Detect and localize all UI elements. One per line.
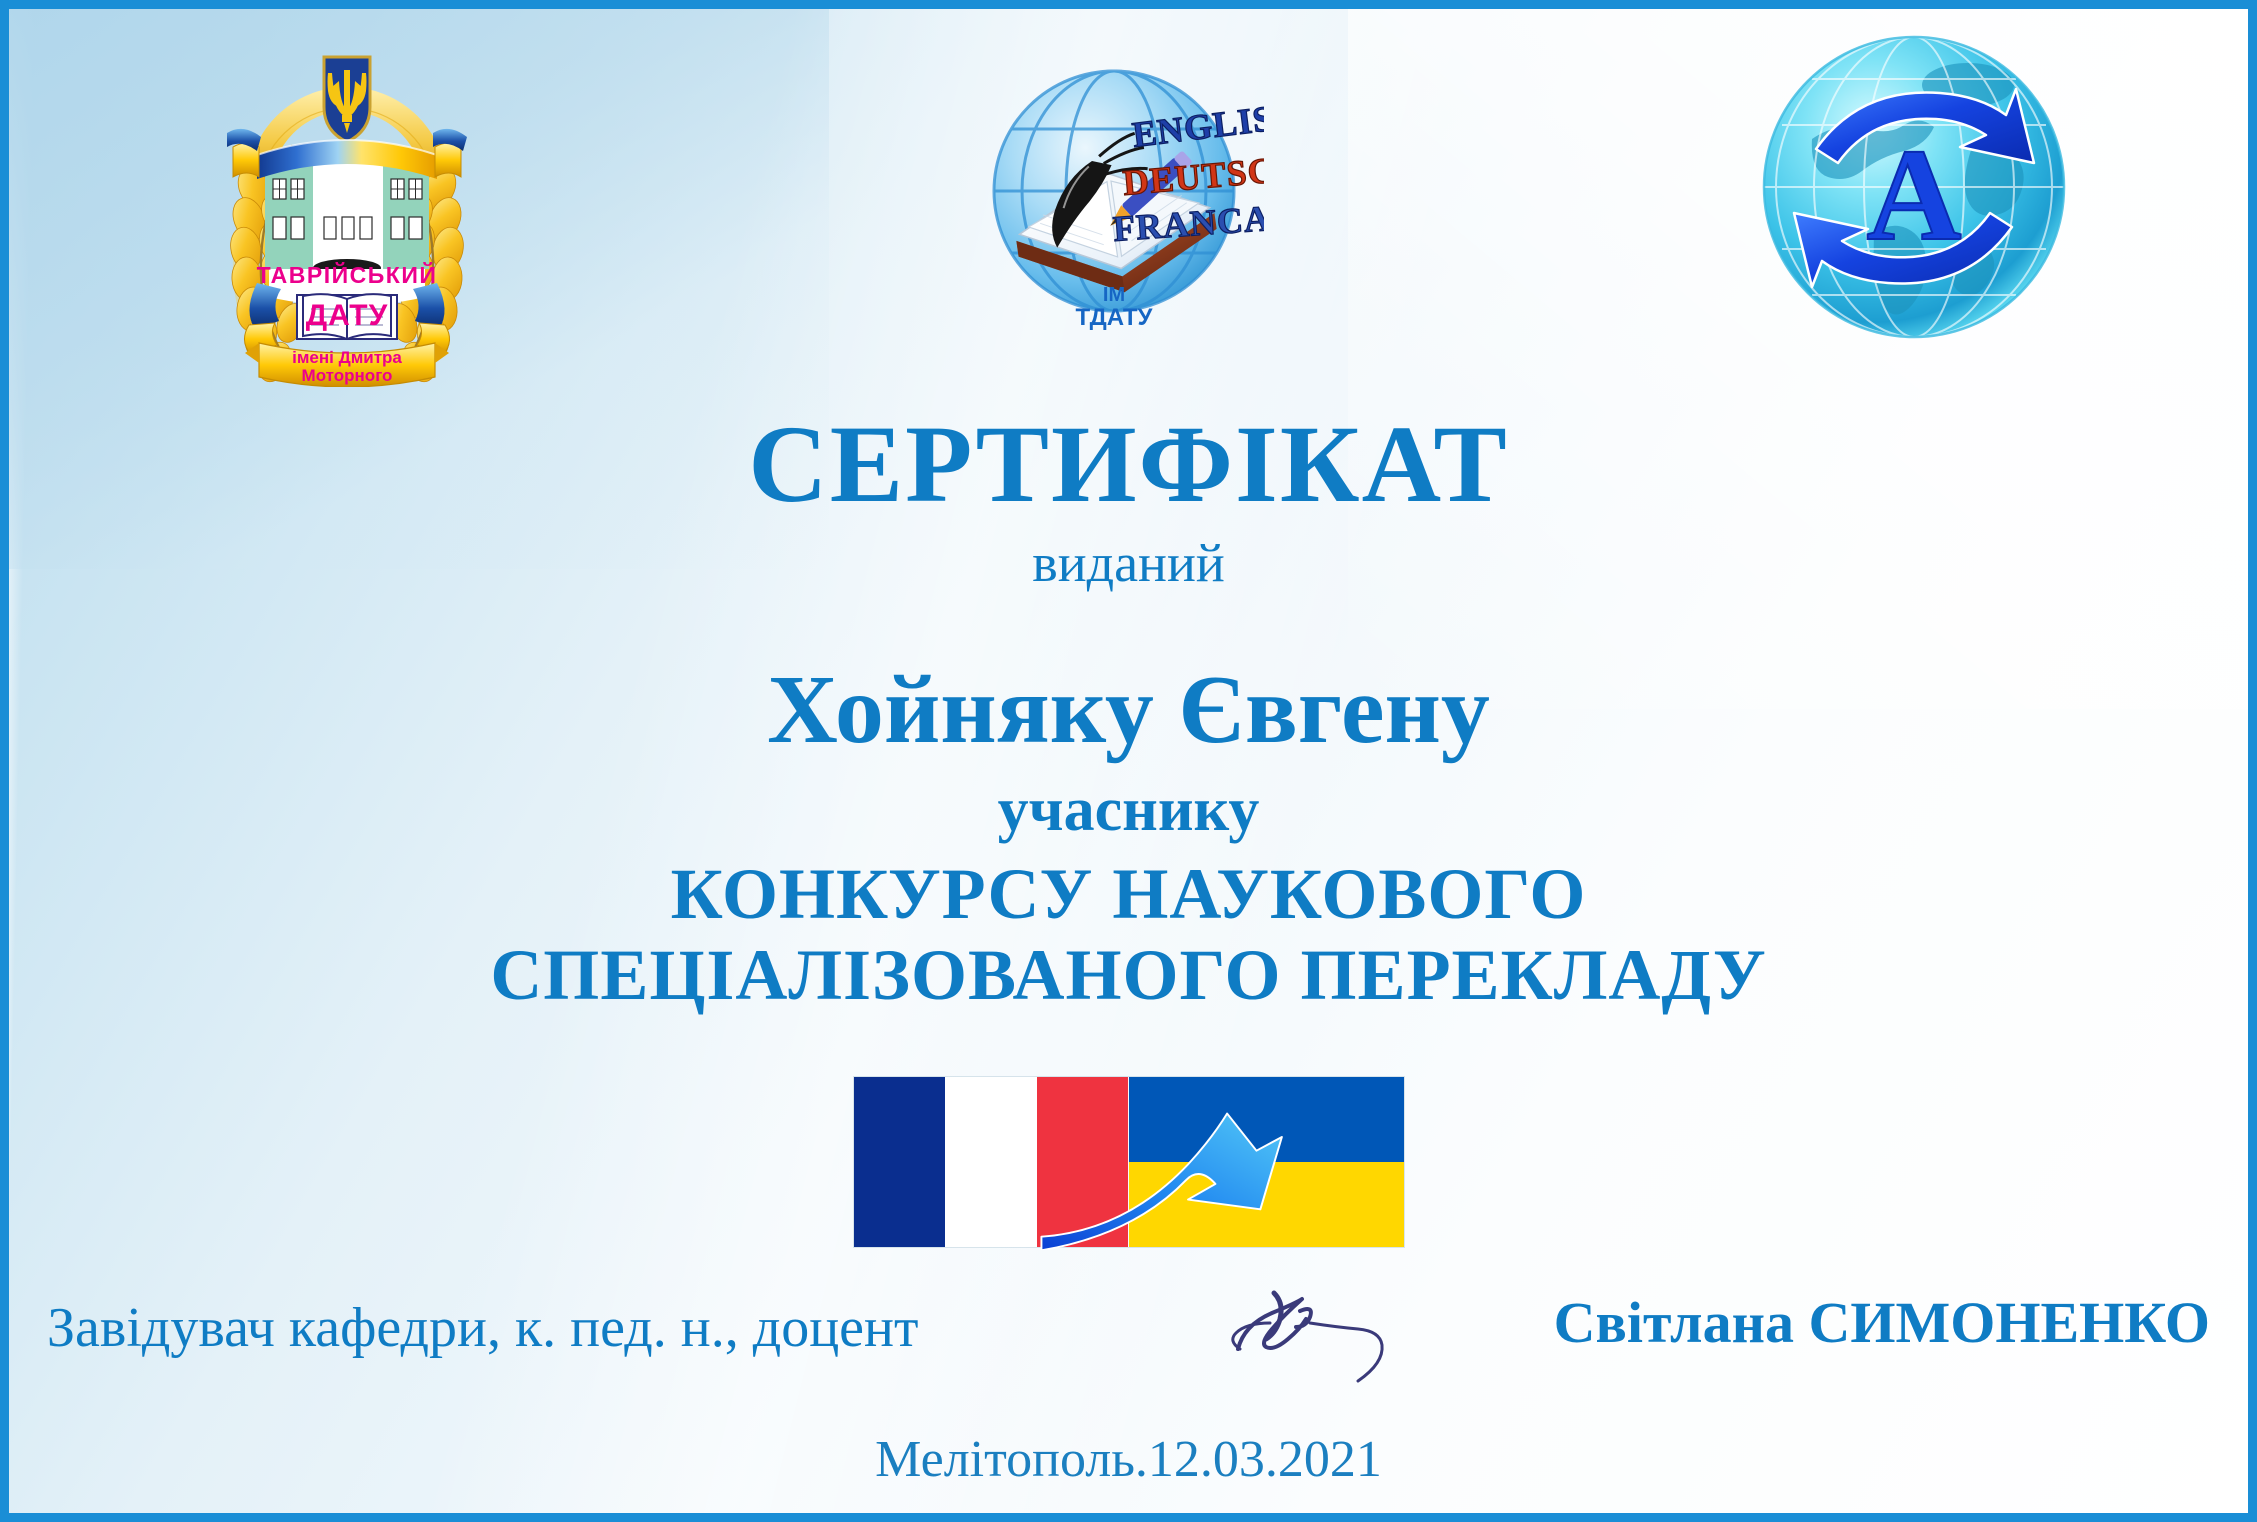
tdatu-emblem-logo: ТАВРІЙСЬКИЙ ДАТУ імені Дмитра bbox=[187, 37, 507, 387]
issued-label: виданий bbox=[9, 536, 2248, 590]
tdatu-title-text: ТАВРІЙСЬКИЙ bbox=[257, 261, 438, 288]
handwritten-signature bbox=[1214, 1267, 1404, 1387]
place-and-date: Мелітополь.12.03.2021 bbox=[9, 1434, 2248, 1486]
flag-ukraine-band-blue bbox=[1129, 1077, 1404, 1162]
translation-globe-arrows-logo: A bbox=[1754, 27, 2074, 347]
certificate-content: ТАВРІЙСЬКИЙ ДАТУ імені Дмитра bbox=[9, 9, 2248, 1513]
event-name-line-2: СПЕЦІАЛІЗОВАНОГО ПЕРЕКЛАДУ bbox=[9, 935, 2248, 1016]
flags-graphic bbox=[854, 1077, 1404, 1247]
signatory-name: Світлана СИМОНЕНКО bbox=[1554, 1294, 2210, 1352]
tdatu-ribbon-line1: імені Дмитра bbox=[292, 348, 402, 367]
tdatu-acronym-text: ДАТУ bbox=[306, 299, 389, 332]
signatory-position: Завідувач кафедри, к. пед. н., доцент bbox=[47, 1300, 918, 1356]
event-name-line-1: КОНКУРСУ НАУКОВОГО bbox=[9, 854, 2248, 935]
languages-footer-line2: ТДАТУ bbox=[1076, 304, 1154, 331]
page-title: СЕРТИФІКАТ bbox=[9, 409, 2248, 519]
flag-france-band-red bbox=[1037, 1077, 1129, 1247]
recipient-role: учаснику bbox=[9, 779, 2248, 841]
flag-france-band-white bbox=[945, 1077, 1037, 1247]
flags-row bbox=[854, 1077, 1404, 1247]
flag-ukraine-band-yellow bbox=[1129, 1162, 1404, 1247]
certificate-page: ТАВРІЙСЬКИЙ ДАТУ імені Дмитра bbox=[0, 0, 2257, 1522]
flag-ukraine bbox=[1129, 1077, 1404, 1247]
recipient-name: Хойняку Євгену bbox=[9, 661, 2248, 759]
flag-france-band-blue bbox=[854, 1077, 946, 1247]
event-name: КОНКУРСУ НАУКОВОГО СПЕЦІАЛІЗОВАНОГО ПЕРЕ… bbox=[9, 854, 2248, 1015]
flag-france bbox=[854, 1077, 1129, 1247]
tdatu-ribbon-line2: Моторного bbox=[302, 366, 393, 385]
translation-monogram: A bbox=[1866, 121, 1961, 268]
languages-globe-book-logo: ENGLISH DEUTSCH FRANCAIS ІМ ТДАТУ bbox=[964, 49, 1264, 349]
languages-footer-line1: ІМ bbox=[1103, 284, 1125, 306]
